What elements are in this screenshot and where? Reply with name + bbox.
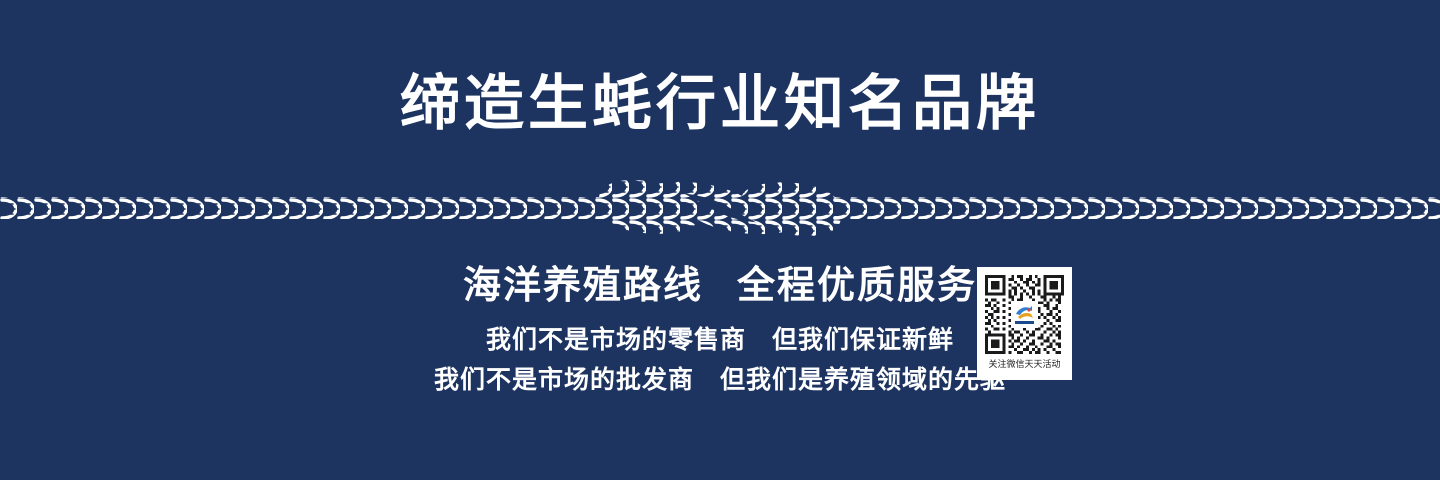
qr-code-image[interactable]	[982, 272, 1067, 357]
brand-logo-glyph	[1012, 302, 1037, 327]
tagline-right: 但我们是养殖领域的先驱	[720, 366, 1006, 394]
page-title: 缔造生蚝行业知名品牌	[0, 68, 1440, 140]
tagline-left: 我们不是市场的零售商	[486, 326, 746, 354]
rope-divider-icon	[0, 176, 1440, 240]
subtitle: 海洋养殖路线全程优质服务	[0, 262, 1440, 310]
qr-code-card[interactable]: 关注微信天天活动	[977, 267, 1072, 380]
rope-knot-divider	[0, 176, 1440, 240]
brand-logo-icon	[1011, 301, 1038, 328]
tagline-left: 我们不是市场的批发商	[434, 366, 694, 394]
qr-caption: 关注微信天天活动	[982, 358, 1067, 371]
tagline-right: 但我们保证新鲜	[772, 326, 954, 354]
tagline-row: 我们不是市场的零售商但我们保证新鲜	[0, 320, 1440, 360]
subtitle-left: 海洋养殖路线	[463, 265, 703, 307]
promo-banner: 缔造生蚝行业知名品牌	[0, 0, 1440, 480]
rope-knot-center	[580, 176, 880, 240]
subtitle-right: 全程优质服务	[737, 265, 977, 307]
tagline-row: 我们不是市场的批发商但我们是养殖领域的先驱	[0, 360, 1440, 400]
tagline-group: 我们不是市场的零售商但我们保证新鲜 我们不是市场的批发商但我们是养殖领域的先驱	[0, 320, 1440, 400]
